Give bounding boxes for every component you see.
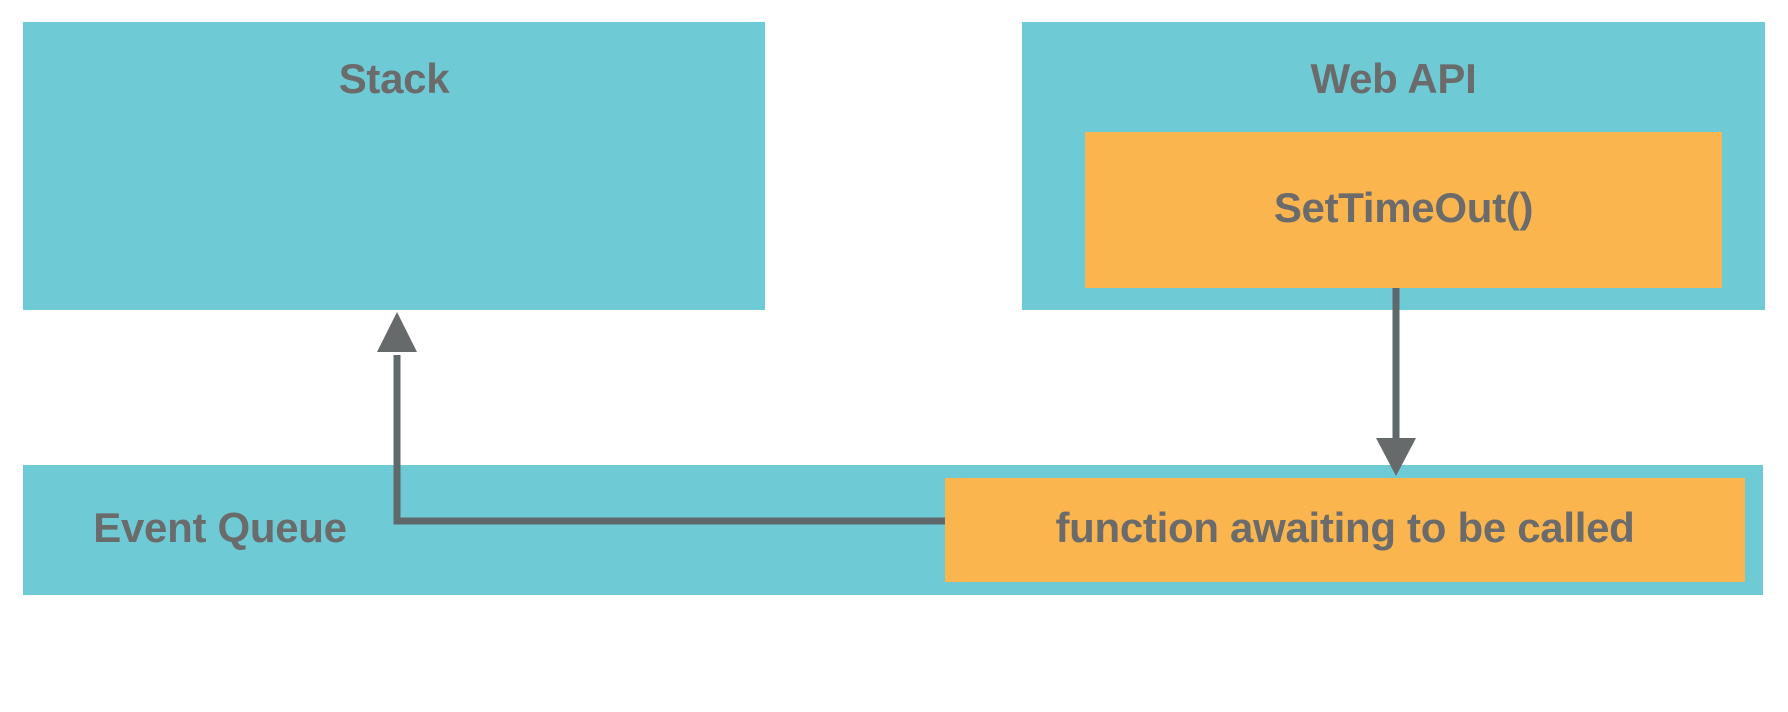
set-timeout-label: SetTimeOut() [1085,182,1722,234]
edge-web-api-to-event-queue [1350,280,1450,485]
arrowhead-up-icon [377,312,417,352]
event-queue-label: Event Queue [60,502,380,554]
stack-label: Stack [23,53,765,105]
diagram-canvas: Stack Web API SetTimeOut() Event Queue f… [0,0,1788,712]
pending-function-label: function awaiting to be called [945,502,1745,554]
web-api-label: Web API [1022,53,1765,105]
